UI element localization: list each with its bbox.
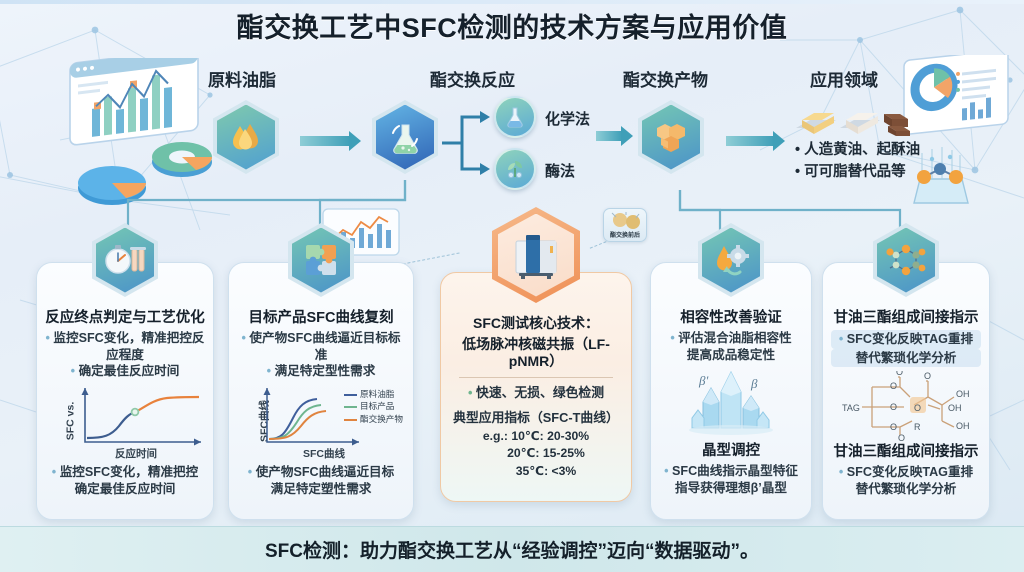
card-icon-compatibility xyxy=(698,223,764,297)
card-icon-sfc-curve xyxy=(288,223,354,297)
application-item: • 人造黄油、起酥油 xyxy=(795,140,920,162)
chart-legend: 原料油脂 目标产品 酯交换产物 xyxy=(344,388,403,425)
card-title-line2: 低场脉冲核磁共振（LF-pNMR） xyxy=(449,336,623,371)
flask-cycle-icon xyxy=(372,100,438,174)
o-label: O xyxy=(924,371,931,381)
card-footer-bullet: • 使产物SFC曲线逼近目标 xyxy=(237,464,405,481)
card-bullet: 替代繁琐化学分析 xyxy=(831,349,981,368)
r-label: R xyxy=(914,422,921,432)
nmr-instrument-icon xyxy=(492,207,580,303)
card-bullet: 提高成品稳定性 xyxy=(659,347,803,364)
card-footer-bullet: • 监控SFC变化，精准把控 xyxy=(45,464,205,481)
oh-label: OH xyxy=(956,389,970,399)
card-chart-reaction: SFC vs. 反应时间 xyxy=(45,384,205,458)
oil-drops-icon xyxy=(213,100,279,174)
card-sub-bullet: • SFC曲线指示晶型特征 xyxy=(659,463,803,480)
oh-label: OH xyxy=(956,421,970,431)
metric-heading: 典型应用指标（SFC-T曲线） xyxy=(449,409,623,428)
flow-label-reaction: 酯交换反应 xyxy=(430,66,515,91)
cubes-icon xyxy=(638,100,704,174)
card-sub-bullet: 指导获得理想β’晶型 xyxy=(659,480,803,497)
card-title: 甘油三酯组成间接指示 xyxy=(831,309,981,327)
card-sub-bullet: 替代繁琐化学分析 xyxy=(831,481,981,498)
card-icon-core-technology xyxy=(492,207,580,303)
page-title-text: 酯交换工艺中SFC检测的技术方案与应用价值 xyxy=(0,6,1024,45)
card-icon-tag-composition xyxy=(873,223,939,297)
application-icon xyxy=(792,100,922,144)
branch-icon-chemical xyxy=(494,96,536,138)
card-bullet: • 确定最佳反应时间 xyxy=(45,363,205,380)
flow-arrow-2 xyxy=(596,131,622,141)
tag-label: TAG xyxy=(842,403,860,413)
o-label: O xyxy=(914,403,921,413)
card-title-line1: SFC测试核心技术： xyxy=(449,315,623,333)
divider xyxy=(459,377,613,378)
card-sub-bullet: • SFC变化反映TAG重排 xyxy=(831,464,981,481)
footer-text: SFC检测：助力酯交换工艺从“经验调控”迈向“数据驱动”。 xyxy=(265,536,759,563)
card-chart-sfc-curves: SFC曲线 原料油脂 目标产品 酯交换产物 SFC曲线 xyxy=(237,384,405,458)
o-label: O xyxy=(890,402,897,412)
card-title: 相容性改善验证 xyxy=(659,309,803,327)
flow-label-raw-oil: 原料油脂 xyxy=(208,66,276,91)
card-reaction-endpoint[interactable]: 反应终点判定与工艺优化 • 监控SFC变化，精准把控反应程度 • 确定最佳反应时… xyxy=(36,262,214,520)
metric-row: e.g.: 10℃: 20-30% xyxy=(449,428,623,446)
card-compatibility[interactable]: 相容性改善验证 • 评估混合油脂相容性 提高成品稳定性 β′ β xyxy=(650,262,812,520)
card-bullet: • 快速、无损、绿色检测 xyxy=(449,384,623,403)
card-subtitle: 晶型调控 xyxy=(659,442,803,460)
flow-arrow-1 xyxy=(300,136,350,146)
card-sfc-curve-replication[interactable]: 目标产品SFC曲线复刻 • 使产物SFC曲线逼近目标标准 • 满足特定型性需求 … xyxy=(228,262,414,520)
molecule-hex-icon xyxy=(873,223,939,297)
stopwatch-test-tube-icon xyxy=(92,223,158,297)
card-tag-composition[interactable]: 甘油三酯组成间接指示 • SFC变化反映TAG重排 替代繁琐化学分析 TAG xyxy=(822,262,990,520)
crystal-label-beta: β xyxy=(750,376,758,391)
flow-arrow-3 xyxy=(726,136,774,146)
card-footer-bullet: 满足特定塑性需求 xyxy=(237,481,405,498)
card-icon-reaction-endpoint xyxy=(92,223,158,297)
status-badge: 酯交换前后 xyxy=(603,208,647,242)
crystal-graphic: β′ β xyxy=(659,366,803,440)
chart-xlabel: 反应时间 xyxy=(45,446,205,461)
card-bullet: • SFC变化反映TAG重排 xyxy=(831,330,981,349)
o-label: O xyxy=(898,433,905,443)
flow-icon-reaction xyxy=(372,100,438,174)
puzzle-icon xyxy=(288,223,354,297)
card-bullet: • 满足特定型性需求 xyxy=(237,363,405,380)
o-label: O xyxy=(896,371,903,377)
card-bullet: • 使产物SFC曲线逼近目标标准 xyxy=(237,330,405,363)
status-badge-label: 酯交换前后 xyxy=(610,230,640,239)
card-subtitle: 甘油三酯组成间接指示 xyxy=(831,443,981,461)
branch-label-chemical: 化学法 xyxy=(545,108,590,129)
legend-item: 原料油脂 xyxy=(344,388,403,400)
o-label: O xyxy=(890,381,897,391)
card-title: 反应终点判定与工艺优化 xyxy=(45,309,205,327)
legend-item: 目标产品 xyxy=(344,400,403,412)
o-label: O xyxy=(890,422,897,432)
card-title: 目标产品SFC曲线复刻 xyxy=(237,309,405,327)
oh-label: OH xyxy=(948,403,962,413)
card-core-technology[interactable]: SFC测试核心技术： 低场脉冲核磁共振（LF-pNMR） • 快速、无损、绿色检… xyxy=(440,272,632,502)
card-bullet: • 监控SFC变化，精准把控反应程度 xyxy=(45,330,205,363)
card-bullet: • 评估混合油脂相容性 xyxy=(659,330,803,347)
oil-gear-icon xyxy=(698,223,764,297)
legend-item: 酯交换产物 xyxy=(344,413,403,425)
flow-label-applications: 应用领域 xyxy=(810,66,878,91)
tag-structure-graphic: TAG O O O O O O R O OH OH OH xyxy=(831,371,981,443)
metric-row: 35℃: <3% xyxy=(449,463,623,481)
flow-label-product: 酯交换产物 xyxy=(623,66,708,91)
flow-icon-product xyxy=(638,100,704,174)
flow-icon-raw-oil xyxy=(213,100,279,174)
card-footer-bullet: 确定最佳反应时间 xyxy=(45,481,205,498)
footer-bar: SFC检测：助力酯交换工艺从“经验调控”迈向“数据驱动”。 xyxy=(0,526,1024,572)
metric-row: 20℃: 15-25% xyxy=(449,445,623,463)
crystal-label-beta-prime: β′ xyxy=(698,373,708,388)
top-accent-bar xyxy=(0,0,1024,4)
chart-xlabel: SFC曲线 xyxy=(237,446,405,461)
page-title: 酯交换工艺中SFC检测的技术方案与应用价值 xyxy=(0,6,1024,45)
